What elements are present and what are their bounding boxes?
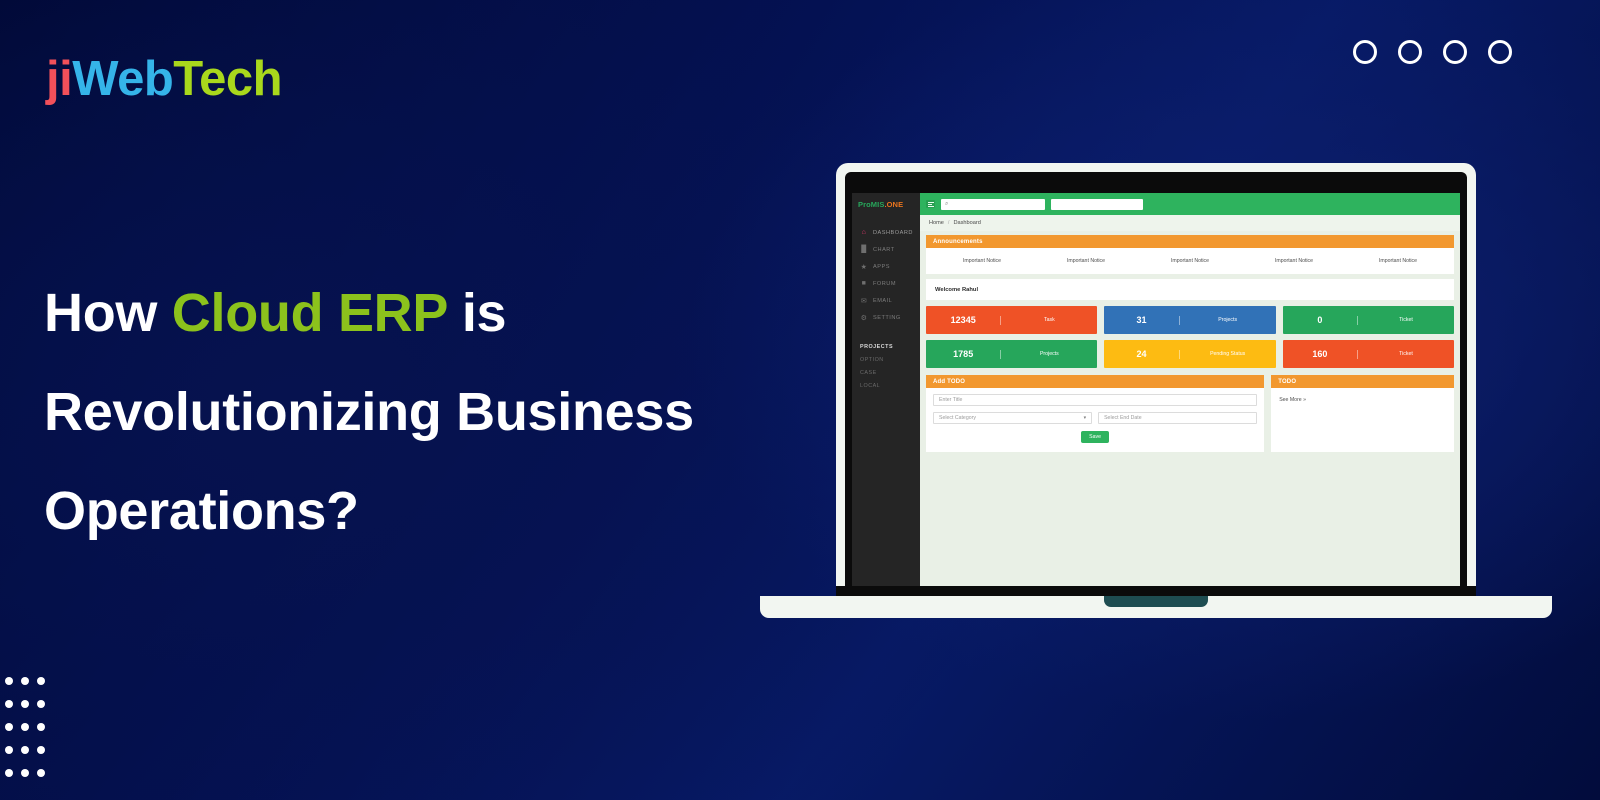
todo-end-date-input[interactable]: Select End Date	[1098, 412, 1257, 424]
laptop-mockup: ProMIS.ONE ⌂ DASHBOARD █ CHART	[760, 163, 1552, 618]
stat-label: Projects	[1001, 351, 1097, 357]
announcement-item[interactable]: Important Notice	[930, 258, 1034, 264]
laptop-base	[760, 596, 1552, 618]
stat-label: Task	[1001, 317, 1097, 323]
envelope-icon: ✉	[860, 297, 868, 305]
magnifier-icon: ⌕	[945, 201, 948, 208]
erp-dashboard-app: ProMIS.ONE ⌂ DASHBOARD █ CHART	[852, 193, 1460, 588]
dot-icon	[21, 700, 29, 708]
top-bar: ⌕	[920, 193, 1460, 215]
dot-icon	[5, 746, 13, 754]
dot-icon	[5, 677, 13, 685]
stat-value: 24	[1104, 350, 1179, 359]
hamburger-icon[interactable]	[926, 200, 935, 208]
home-icon: ⌂	[860, 229, 868, 237]
page-title: How Cloud ERP is Revolutionizing Busines…	[44, 264, 804, 561]
headline-line-2: Revolutionizing Business	[44, 382, 694, 442]
secondary-input[interactable]	[1051, 199, 1143, 210]
dot-icon	[21, 677, 29, 685]
laptop-screen: ProMIS.ONE ⌂ DASHBOARD █ CHART	[852, 193, 1460, 588]
dot-icon	[5, 723, 13, 731]
sidebar-item-label: CHART	[873, 247, 895, 253]
welcome-message: Welcome Rahul	[926, 279, 1454, 300]
dot-icon	[37, 700, 45, 708]
sidebar-item-label: EMAIL	[873, 298, 892, 304]
laptop-lid: ProMIS.ONE ⌂ DASHBOARD █ CHART	[836, 163, 1476, 598]
stat-card[interactable]: 12345 Task	[926, 306, 1097, 334]
breadcrumb-home[interactable]: Home	[929, 220, 944, 226]
stat-cards: 12345 Task 31 Projects 0 Ticket	[926, 306, 1454, 368]
add-todo-title: Add TODO	[926, 375, 1264, 388]
stat-card[interactable]: 0 Ticket	[1283, 306, 1454, 334]
sidebar-item-option[interactable]: OPTION	[852, 357, 920, 363]
announcement-item[interactable]: Important Notice	[1034, 258, 1138, 264]
stat-value: 31	[1104, 316, 1179, 325]
dot-icon	[21, 769, 29, 777]
ring-icon	[1398, 40, 1422, 64]
dot-icon	[37, 746, 45, 754]
dot-icon	[37, 677, 45, 685]
star-icon: ★	[860, 263, 868, 271]
brand-logo-part-web: Web	[72, 52, 173, 106]
headline-line-3: Operations?	[44, 481, 359, 541]
dot-icon	[37, 769, 45, 777]
stat-label: Pending Status	[1180, 351, 1276, 357]
gear-icon: ⚙	[860, 314, 868, 322]
add-todo-form: Enter Title Select Category Select End D…	[926, 388, 1264, 452]
announcement-item[interactable]: Important Notice	[1242, 258, 1346, 264]
sidebar-item-forum[interactable]: ■ FORUM	[852, 275, 920, 292]
announcements-list: Important Notice Important Notice Import…	[926, 248, 1454, 274]
ring-icon	[1488, 40, 1512, 64]
todo-form-row: Select Category Select End Date	[933, 412, 1257, 424]
stat-label: Projects	[1180, 317, 1276, 323]
see-more-link[interactable]: See More »	[1271, 388, 1454, 412]
stat-card[interactable]: 31 Projects	[1104, 306, 1275, 334]
app-logo-secondary: .ONE	[884, 200, 903, 209]
stat-label: Ticket	[1358, 351, 1454, 357]
stat-value: 160	[1283, 350, 1358, 359]
save-button-wrap: Save	[933, 431, 1257, 443]
save-button[interactable]: Save	[1081, 431, 1109, 443]
sidebar-item-local[interactable]: LOCAL	[852, 383, 920, 389]
sidebar-item-label: APPS	[873, 264, 890, 270]
breadcrumb-separator: /	[948, 220, 950, 226]
announcements-title: Announcements	[926, 235, 1454, 248]
brand-logo-part-tech: Tech	[173, 52, 282, 106]
ring-decoration	[1353, 40, 1512, 64]
sidebar-item-email[interactable]: ✉ EMAIL	[852, 292, 920, 309]
headline-line-1-pre: How	[44, 283, 172, 343]
sidebar: ProMIS.ONE ⌂ DASHBOARD █ CHART	[852, 193, 920, 588]
todo-category-select[interactable]: Select Category	[933, 412, 1092, 424]
stat-value: 0	[1283, 316, 1358, 325]
announcements-card: Announcements Important Notice Important…	[926, 235, 1454, 274]
ring-icon	[1353, 40, 1377, 64]
todo-list-panel: TODO See More »	[1271, 375, 1454, 452]
stat-value: 1785	[926, 350, 1001, 359]
stat-card[interactable]: 1785 Projects	[926, 340, 1097, 368]
dashboard-body: Announcements Important Notice Important…	[920, 231, 1460, 588]
announcement-item[interactable]: Important Notice	[1346, 258, 1450, 264]
ring-icon	[1443, 40, 1467, 64]
dot-icon	[37, 723, 45, 731]
main-content: ⌕ Home / Dashboard Announ	[920, 193, 1460, 588]
app-logo-primary: ProMIS	[858, 200, 884, 209]
sidebar-item-dashboard[interactable]: ⌂ DASHBOARD	[852, 224, 920, 241]
sidebar-item-apps[interactable]: ★ APPS	[852, 258, 920, 275]
stat-value: 12345	[926, 316, 1001, 325]
laptop-bezel: ProMIS.ONE ⌂ DASHBOARD █ CHART	[845, 172, 1467, 598]
dot-icon	[21, 723, 29, 731]
bar-chart-icon: █	[860, 246, 868, 254]
search-input[interactable]: ⌕	[941, 199, 1045, 210]
sidebar-section-projects: PROJECTS	[852, 344, 920, 350]
breadcrumb-current: Dashboard	[953, 220, 980, 226]
sidebar-item-case[interactable]: CASE	[852, 370, 920, 376]
app-logo: ProMIS.ONE	[852, 193, 920, 215]
dot-icon	[21, 746, 29, 754]
announcement-item[interactable]: Important Notice	[1138, 258, 1242, 264]
sidebar-nav: ⌂ DASHBOARD █ CHART ★ APPS	[852, 224, 920, 326]
add-todo-panel: Add TODO Enter Title Select Category Sel…	[926, 375, 1264, 452]
todo-list-title: TODO	[1271, 375, 1454, 388]
laptop-hinge	[836, 586, 1476, 596]
headline-accent: Cloud ERP	[172, 283, 447, 343]
dot-icon	[5, 700, 13, 708]
headline-line-1-post: is	[447, 283, 506, 343]
sidebar-item-label: DASHBOARD	[873, 230, 913, 236]
dot-grid-decoration	[5, 677, 53, 792]
sidebar-item-chart[interactable]: █ CHART	[852, 241, 920, 258]
brand-logo-part-ji: ji	[46, 52, 72, 106]
brand-logo: jiWebTech	[46, 55, 282, 104]
sidebar-item-setting[interactable]: ⚙ SETTING	[852, 309, 920, 326]
stat-card[interactable]: 24 Pending Status	[1104, 340, 1275, 368]
sidebar-item-label: FORUM	[873, 281, 896, 287]
sidebar-item-label: SETTING	[873, 315, 901, 321]
breadcrumb: Home / Dashboard	[920, 215, 1460, 231]
dot-icon	[5, 769, 13, 777]
todo-section: Add TODO Enter Title Select Category Sel…	[926, 375, 1454, 452]
chat-bubble-icon: ■	[860, 280, 868, 288]
todo-title-input[interactable]: Enter Title	[933, 394, 1257, 406]
stat-label: Ticket	[1358, 317, 1454, 323]
stat-card[interactable]: 160 Ticket	[1283, 340, 1454, 368]
